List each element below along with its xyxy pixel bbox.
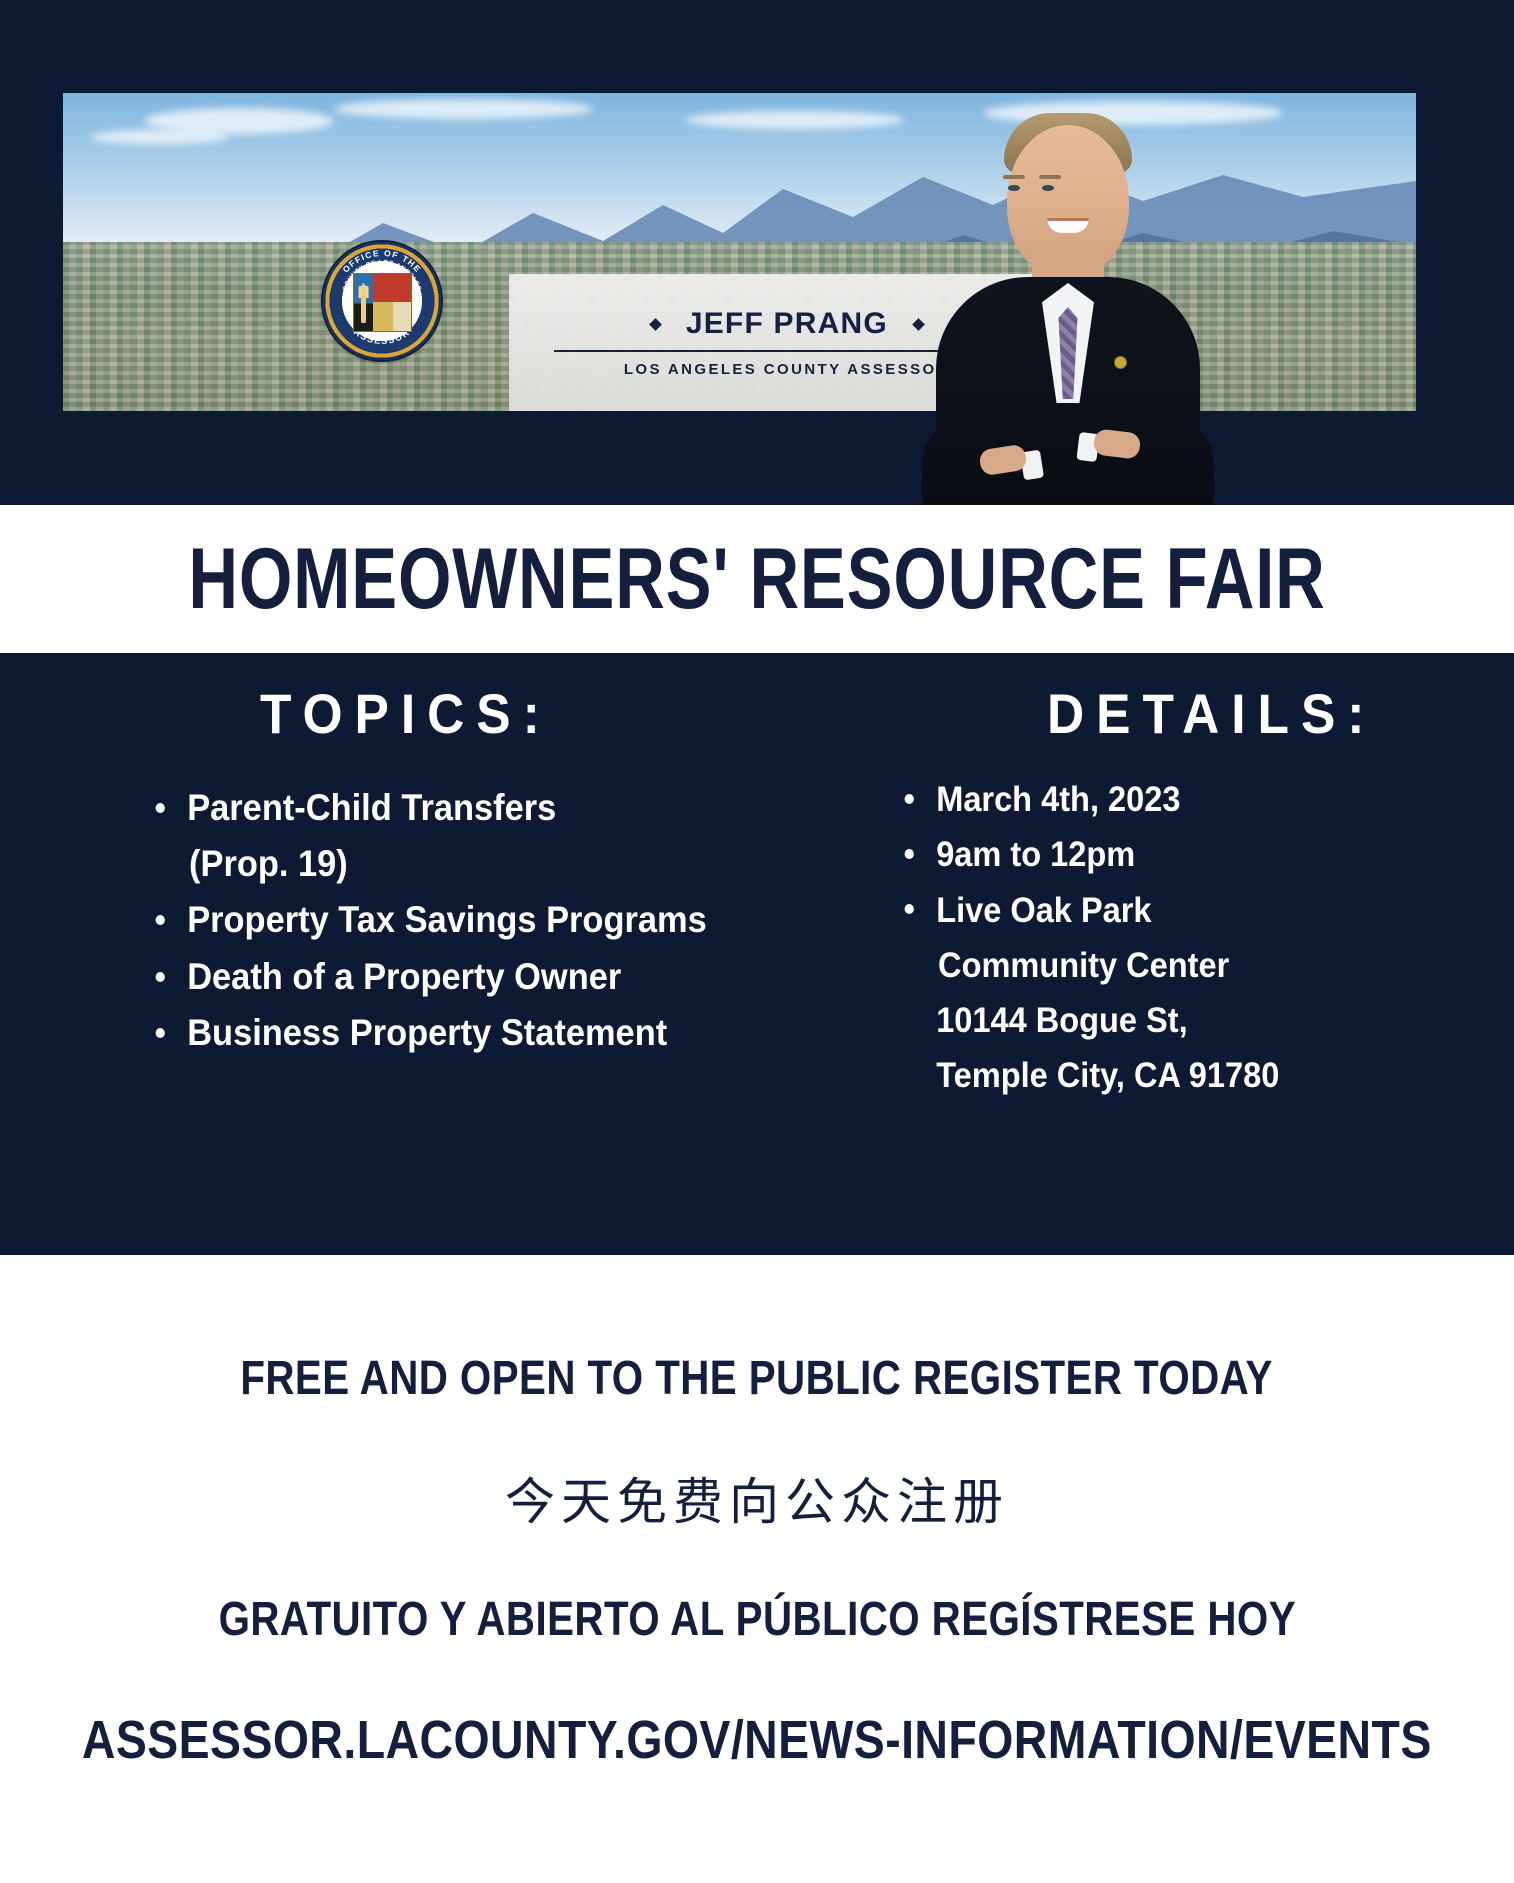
title-section: HOMEOWNERS' RESOURCE FAIR [0,505,1514,653]
list-item: Property Tax Savings Programs [150,892,743,948]
details-heading: DETAILS: [1047,681,1476,746]
venue-city-state-zip: Temple City, CA 91780 [936,1056,1279,1095]
assessor-title: LOS ANGELES COUNTY ASSESSOR [624,361,950,378]
footer-section: FREE AND OPEN TO THE PUBLIC REGISTER TOD… [0,1255,1514,1883]
footer-chinese-cta: 今天免费向公众注册 [505,1462,1009,1534]
bullet-icon [156,1028,165,1038]
topics-heading: TOPICS: [260,681,745,746]
page-title: HOMEOWNERS' RESOURCE FAIR [151,505,1362,653]
bullet-icon [905,849,914,859]
bullet-icon [905,904,914,914]
list-item: Death of a Property Owner [150,949,743,1005]
seal-quadrant [373,302,393,330]
footer-spanish-cta: GRATUITO Y ABIERTO AL PÚBLICO REGÍSTRESE… [218,1592,1295,1647]
assessor-name: JEFF PRANG [686,307,888,341]
details-column: DETAILS: March 4th, 2023 9am to 12pm Liv… [787,653,1514,1255]
footer-english-cta: FREE AND OPEN TO THE PUBLIC REGISTER TOD… [241,1351,1273,1406]
list-item: March 4th, 2023 [899,772,1471,827]
eyebrow [1039,175,1061,179]
list-item-label: Property Tax Savings Programs [187,899,707,940]
list-item-label: Parent-Child Transfers [187,787,556,828]
registration-url[interactable]: ASSESSOR.LACOUNTY.GOV/NEWS-INFORMATION/E… [82,1709,1432,1771]
eyebrow [1003,175,1025,179]
lapel-pin-icon [1114,356,1127,369]
necktie [1059,307,1078,399]
assessor-portrait [918,98,1218,509]
list-item: Temple City, CA 91780 [899,1048,1471,1103]
flyer-poster: OFFICE OF THE COUNTY OF LOS ANGELES ASSE… [0,0,1514,1883]
bullet-icon [905,794,914,804]
list-item: Business Property Statement [150,1005,743,1061]
event-date: March 4th, 2023 [936,780,1180,819]
list-item-label: Death of a Property Owner [187,956,621,997]
topics-list: Parent-Child Transfers (Prop. 19) Proper… [150,780,787,1061]
seal-center-figure [354,274,372,331]
content-section: TOPICS: Parent-Child Transfers (Prop. 19… [0,653,1514,1255]
diamond-icon [649,318,662,331]
banner-section: OFFICE OF THE COUNTY OF LOS ANGELES ASSE… [0,0,1514,505]
topics-column: TOPICS: Parent-Child Transfers (Prop. 19… [0,653,787,1255]
seal-shield [353,273,412,332]
crossed-arms [922,413,1214,509]
seal-quadrant [393,302,411,330]
la-county-assessor-seal-icon: OFFICE OF THE COUNTY OF LOS ANGELES ASSE… [323,242,441,360]
seal-sunburst-icon [358,278,369,298]
venue-name-continuation: Community Center [936,938,1470,993]
list-item: 10144 Bogue St, [899,993,1471,1048]
details-list: March 4th, 2023 9am to 12pm Live Oak Par… [899,772,1514,1104]
venue-name: Live Oak Park [936,891,1151,930]
seal-quadrant [393,274,411,302]
list-item-continuation: (Prop. 19) [187,836,742,892]
bullet-icon [156,803,165,813]
list-item: 9am to 12pm [899,827,1471,882]
banner-photo: OFFICE OF THE COUNTY OF LOS ANGELES ASSE… [63,93,1416,411]
list-item-label: Business Property Statement [187,1012,667,1053]
bullet-icon [156,915,165,925]
eye [1008,185,1020,191]
seal-quadrant [373,274,393,302]
list-item: Parent-Child Transfers (Prop. 19) [150,780,743,892]
venue-street: 10144 Bogue St, [936,1001,1187,1040]
list-item: Live Oak Park Community Center [899,883,1471,994]
eye [1042,185,1054,191]
bullet-icon [156,972,165,982]
event-time: 9am to 12pm [936,835,1135,874]
